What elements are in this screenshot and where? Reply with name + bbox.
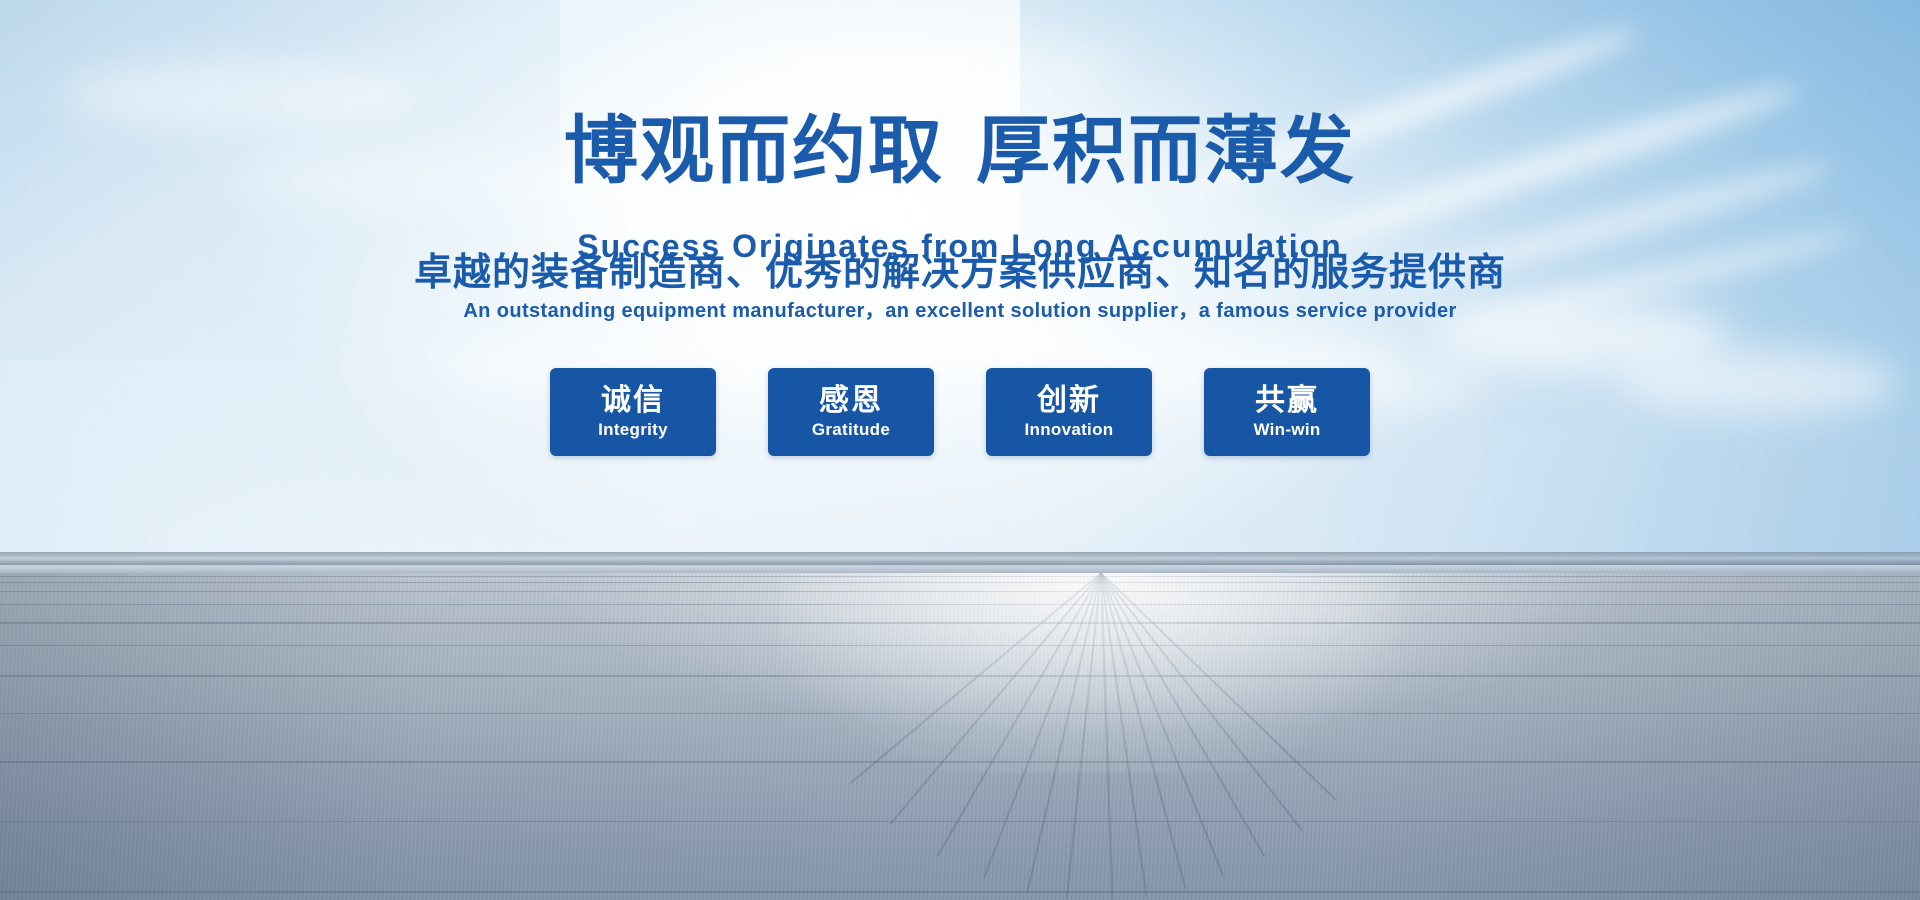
value-label-cn: 诚信 (601, 384, 665, 418)
banner-content: 博观而约取厚积而薄发 Success Originates from Long … (0, 0, 1920, 900)
value-card-gratitude[interactable]: 感恩 Gratitude (768, 368, 934, 456)
value-label-en: Integrity (598, 420, 668, 440)
value-card-innovation[interactable]: 创新 Innovation (986, 368, 1152, 456)
value-label-cn: 感恩 (819, 384, 883, 418)
value-card-winwin[interactable]: 共赢 Win-win (1204, 368, 1370, 456)
value-label-en: Gratitude (812, 420, 890, 440)
tagline-en: An outstanding equipment manufacturer，an… (0, 298, 1920, 324)
banner-stage: 博观而约取厚积而薄发 Success Originates from Long … (0, 0, 1920, 900)
tagline-cn: 卓越的装备制造商、优秀的解决方案供应商、知名的服务提供商 (0, 250, 1920, 294)
headline-part-2: 厚积而薄发 (976, 108, 1356, 194)
value-card-integrity[interactable]: 诚信 Integrity (550, 368, 716, 456)
value-label-cn: 创新 (1037, 384, 1101, 418)
value-label-en: Win-win (1253, 420, 1320, 440)
page-title: 博观而约取厚积而薄发 (0, 112, 1920, 190)
value-label-cn: 共赢 (1255, 384, 1319, 418)
value-label-en: Innovation (1025, 420, 1114, 440)
headline-part-1: 博观而约取 (564, 108, 944, 194)
core-values-list: 诚信 Integrity 感恩 Gratitude 创新 Innovation … (0, 368, 1920, 456)
